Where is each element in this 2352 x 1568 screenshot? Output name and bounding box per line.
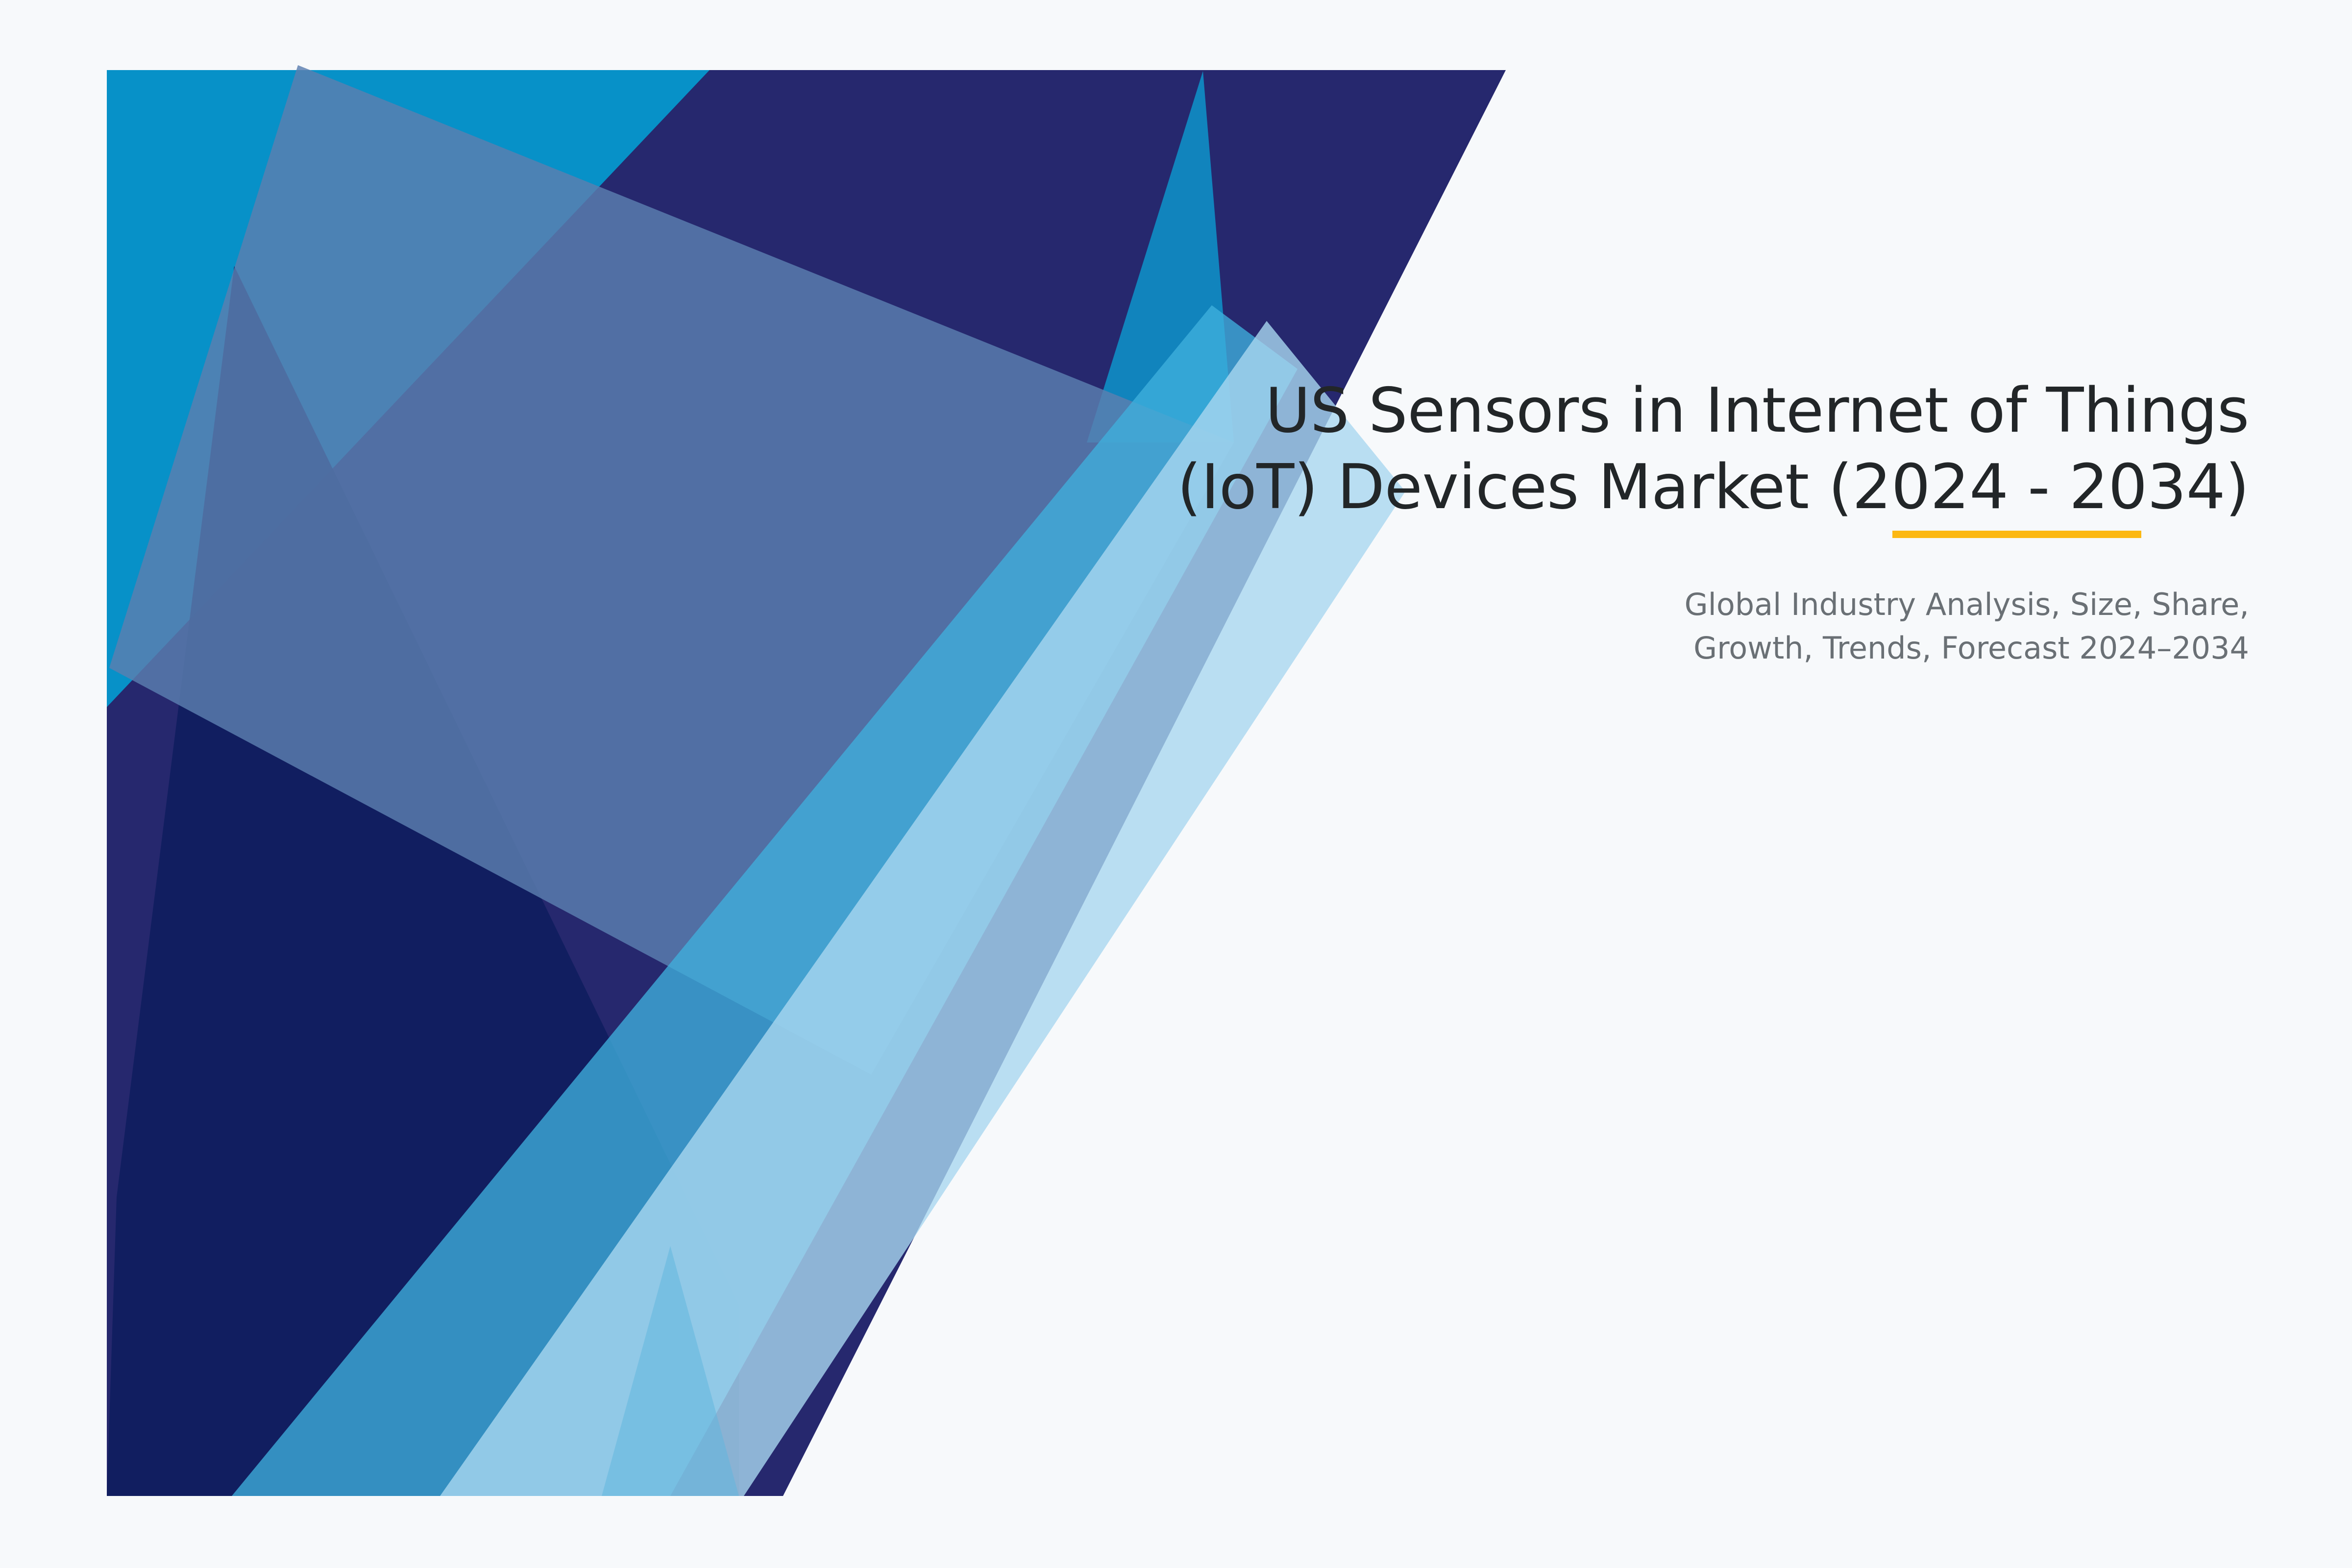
title-highlight-bar — [1892, 531, 2141, 538]
cover-text-block: US Sensors in Internet of Things (IoT) D… — [931, 372, 2249, 670]
abstract-polygon-collage-svg — [107, 70, 1506, 1496]
page-subtitle: Global Industry Analysis, Size, Share, G… — [931, 525, 2249, 669]
page-title: US Sensors in Internet of Things (IoT) D… — [931, 372, 2249, 525]
cover-artwork — [107, 70, 1506, 1496]
